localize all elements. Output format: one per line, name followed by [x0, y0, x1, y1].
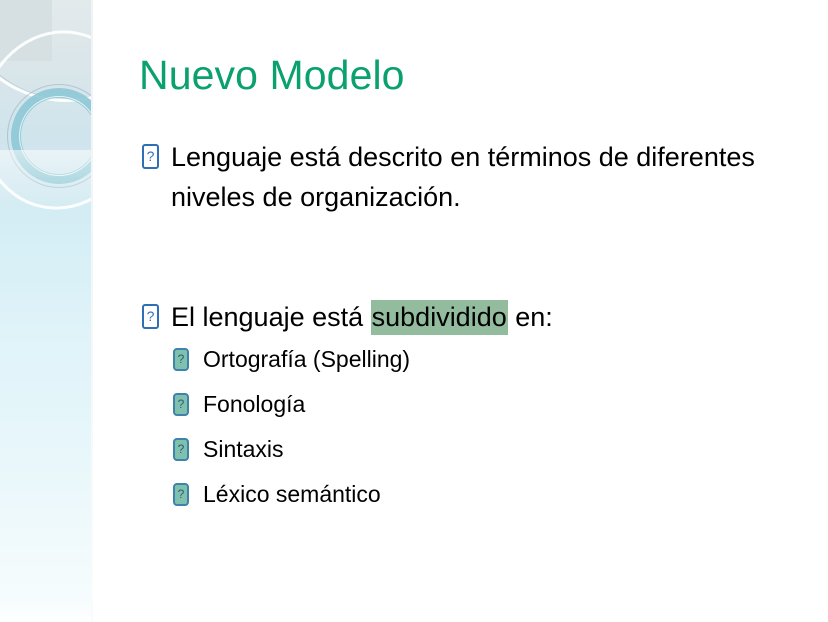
- bullet-item: ? Lenguaje está descrito en términos de …: [140, 137, 780, 217]
- sub-bullet-item: ? Léxico semántico: [140, 472, 780, 517]
- bullet-text-part: en:: [508, 302, 553, 332]
- slide-title: Nuevo Modelo: [139, 52, 405, 99]
- sub-bullet-item: ? Sintaxis: [140, 427, 780, 472]
- sub-bullet-item: ? Fonología: [140, 382, 780, 427]
- missing-glyph-box-icon: ?: [142, 304, 159, 329]
- sub-bullet-text: Ortografía (Spelling): [203, 346, 410, 372]
- bullet-spacer: [140, 217, 780, 297]
- missing-glyph-box-icon: ?: [173, 348, 189, 371]
- missing-glyph-box-icon: ?: [142, 144, 159, 169]
- decorative-sidebar: [0, 0, 93, 622]
- highlighted-text: subdividido: [371, 300, 508, 335]
- sub-bullet-item: ? Ortografía (Spelling): [140, 337, 780, 382]
- sub-bullet-text: Léxico semántico: [203, 481, 381, 507]
- missing-glyph-box-icon: ?: [173, 438, 189, 461]
- missing-glyph-box-icon: ?: [173, 483, 189, 506]
- slide-body: ? Lenguaje está descrito en términos de …: [140, 137, 780, 517]
- missing-glyph-box-icon: ?: [173, 393, 189, 416]
- sub-bullet-text: Sintaxis: [203, 436, 284, 462]
- sub-bullet-text: Fonología: [203, 391, 305, 417]
- bullet-item: ? El lenguaje está subdividido en:: [140, 297, 780, 337]
- bullet-text-part: El lenguaje está: [171, 302, 371, 332]
- sidebar-gloss: [0, 150, 93, 210]
- presentation-slide: Nuevo Modelo ? Lenguaje está descrito en…: [0, 0, 828, 622]
- sidebar-edge: [91, 0, 93, 622]
- bullet-text: Lenguaje está descrito en términos de di…: [171, 137, 780, 217]
